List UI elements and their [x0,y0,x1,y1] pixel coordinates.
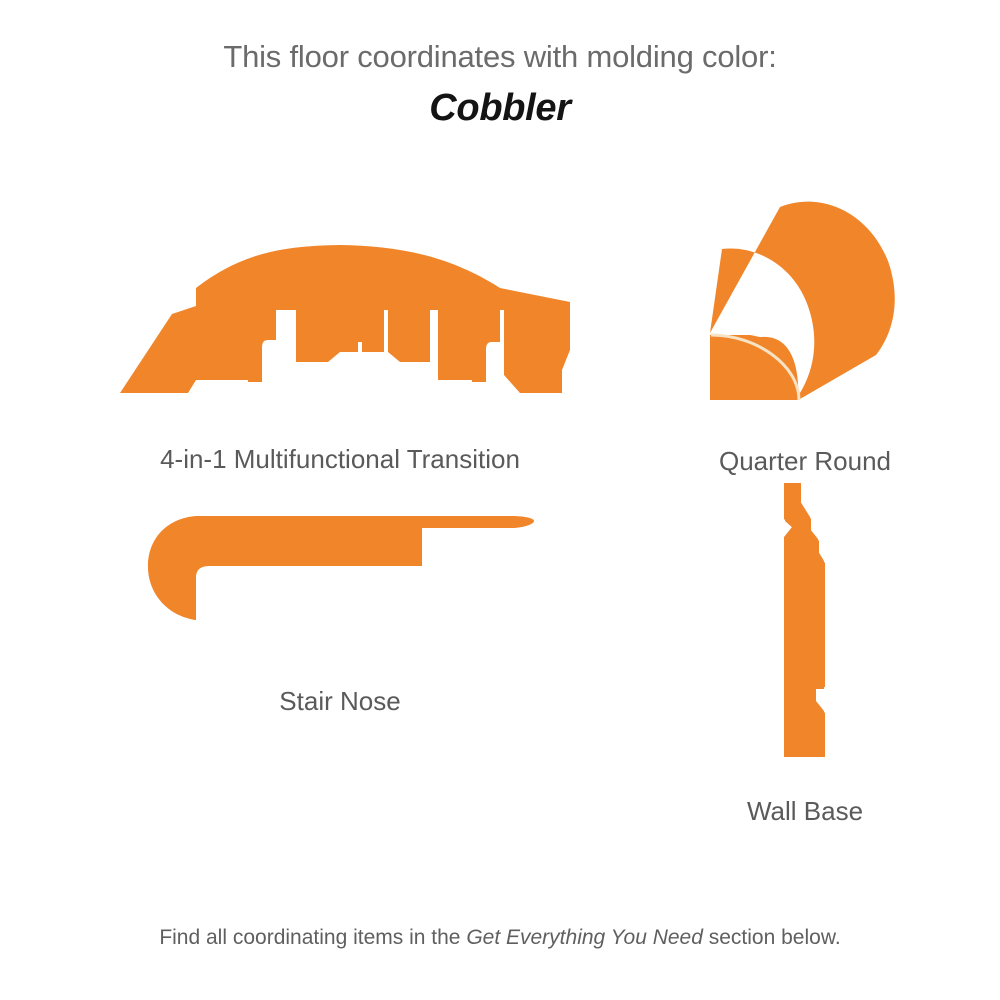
footer-prefix: Find all coordinating items in the [159,926,466,949]
stair-nose-profile-icon [130,490,550,630]
page-title: This floor coordinates with molding colo… [0,38,1000,76]
transition-profile-icon [100,230,580,390]
quarter-round-profile-icon [700,185,910,415]
header: This floor coordinates with molding colo… [0,38,1000,130]
product-cell-transition: 4-in-1 Multifunctional Transition [40,190,640,475]
wall-base-profile-icon [770,475,840,765]
product-label-stair-nose: Stair Nose [40,686,640,717]
product-cell-stair-nose: Stair Nose [40,460,640,717]
molding-coordination-card: This floor coordinates with molding colo… [0,0,1000,1000]
product-cell-wall-base: Wall Base [620,470,990,827]
footer-emphasis: Get Everything You Need [466,926,703,949]
molding-color-name: Cobbler [0,88,1000,130]
stair-nose-art [40,460,640,660]
product-label-wall-base: Wall Base [620,796,990,827]
footer-suffix: section below. [703,926,841,949]
product-cell-quarter-round: Quarter Round [620,170,990,477]
product-grid: 4-in-1 Multifunctional Transition Quarte… [0,170,1000,890]
wall-base-art [620,470,990,770]
quarter-round-art [620,170,990,430]
transition-art [40,190,640,430]
footer-note: Find all coordinating items in the Get E… [0,926,1000,950]
